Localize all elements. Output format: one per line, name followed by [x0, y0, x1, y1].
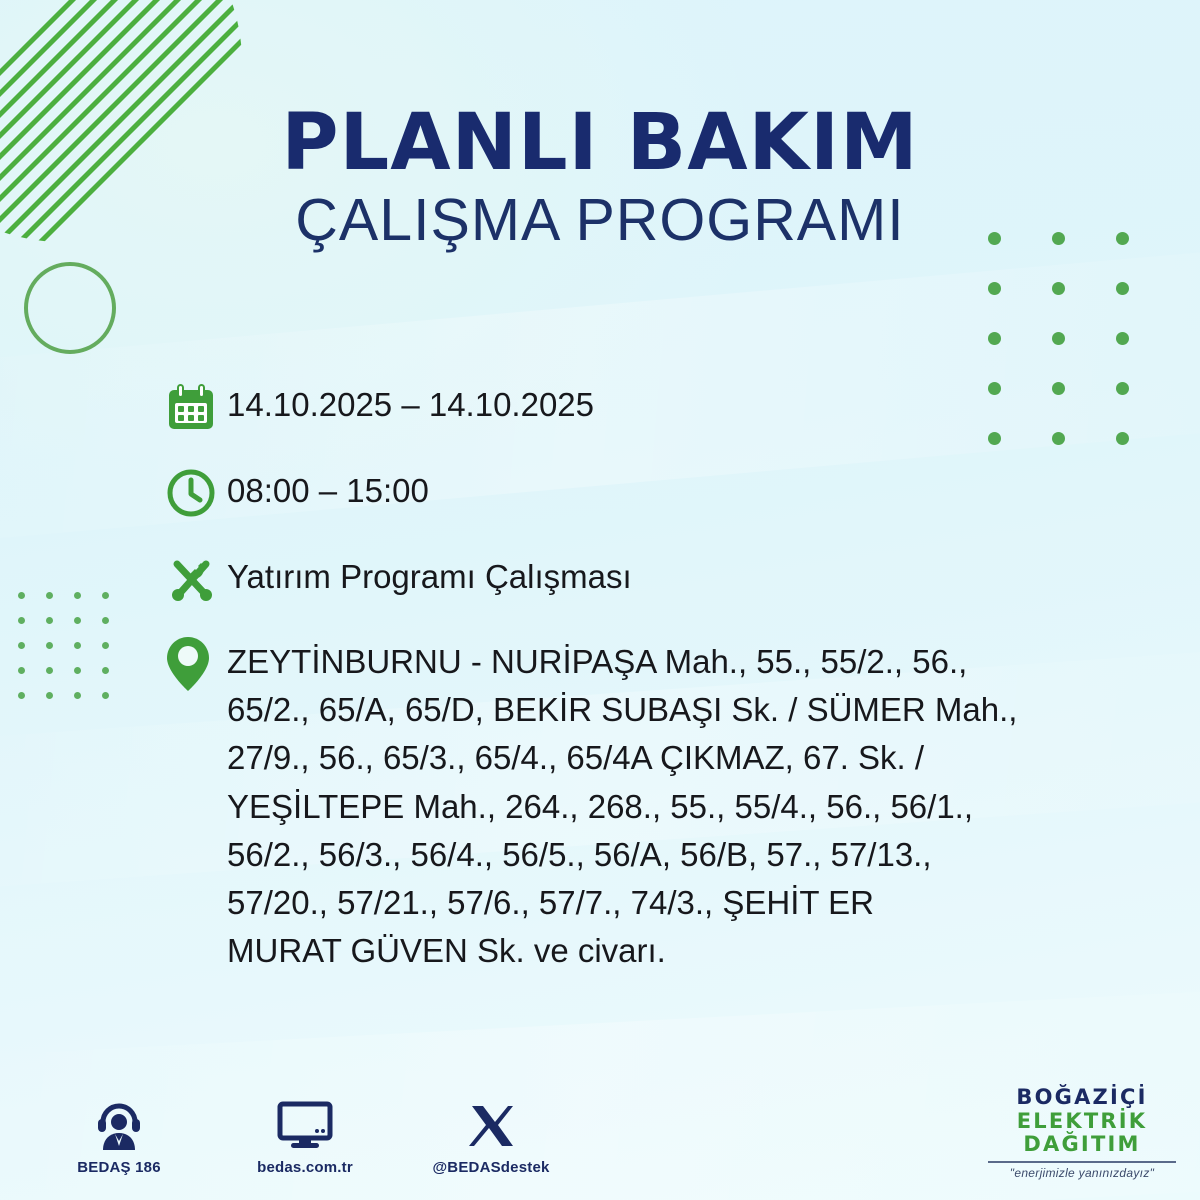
info-row-work-type: Yatırım Programı Çalışması: [165, 550, 1125, 608]
address-text: ZEYTİNBURNU - NURİPAŞA Mah., 55., 55/2.,…: [227, 636, 1017, 975]
dot-grid-left-decoration: [18, 592, 130, 717]
poster-header: PLANLI BAKIM ÇALIŞMA PROGRAMI: [0, 104, 1200, 251]
contact-social-x[interactable]: @BEDASdestek: [430, 1092, 552, 1176]
info-row-address: ZEYTİNBURNU - NURİPAŞA Mah., 55., 55/2.,…: [165, 636, 1125, 975]
page-subtitle: ÇALIŞMA PROGRAMI: [0, 190, 1200, 252]
x-twitter-icon: [430, 1092, 552, 1150]
info-row-time: 08:00 – 15:00: [165, 464, 1125, 522]
circle-outline-decoration: [24, 262, 116, 354]
date-range-text: 14.10.2025 – 14.10.2025: [227, 378, 594, 426]
headset-icon: [58, 1092, 180, 1150]
address-line: 27/9., 56., 65/3., 65/4., 65/4A ÇIKMAZ, …: [227, 734, 1017, 782]
poster: PLANLI BAKIM ÇALIŞMA PROGRAMI: [0, 0, 1200, 1200]
address-line: 56/2., 56/3., 56/4., 56/5., 56/A, 56/B, …: [227, 831, 1017, 879]
calendar-icon: [165, 378, 227, 436]
info-row-date: 14.10.2025 – 14.10.2025: [165, 378, 1125, 436]
company-logo: BOĞAZİÇİ ELEKTRİK DAĞITIM "enerjimizle y…: [982, 1086, 1182, 1180]
logo-line-elektrik: ELEKTRİK: [982, 1110, 1182, 1134]
logo-line-dagitim: DAĞITIM: [982, 1133, 1182, 1157]
location-pin-icon: [165, 636, 227, 692]
logo-line-bogazici: BOĞAZİÇİ: [982, 1086, 1182, 1110]
contact-label: BEDAŞ 186: [58, 1159, 180, 1176]
address-line: 57/20., 57/21., 57/6., 57/7., 74/3., ŞEH…: [227, 879, 1017, 927]
tools-wrench-screwdriver-icon: [165, 550, 227, 608]
contact-call-center[interactable]: BEDAŞ 186: [58, 1092, 180, 1176]
address-line: ZEYTİNBURNU - NURİPAŞA Mah., 55., 55/2.,…: [227, 638, 1017, 686]
logo-tagline: "enerjimizle yanınızdayız": [982, 1166, 1182, 1180]
address-line: MURAT GÜVEN Sk. ve civarı.: [227, 927, 1017, 975]
info-list: 14.10.2025 – 14.10.2025 08:00 – 15:00: [165, 378, 1125, 975]
clock-icon: [165, 464, 227, 522]
logo-divider: [988, 1161, 1176, 1163]
work-type-text: Yatırım Programı Çalışması: [227, 550, 632, 598]
address-line: 65/2., 65/A, 65/D, BEKİR SUBAŞI Sk. / SÜ…: [227, 686, 1017, 734]
address-line: YEŞİLTEPE Mah., 264., 268., 55., 55/4., …: [227, 783, 1017, 831]
contact-label: bedas.com.tr: [244, 1159, 366, 1176]
time-range-text: 08:00 – 15:00: [227, 464, 429, 512]
monitor-icon: [244, 1092, 366, 1150]
contact-website[interactable]: bedas.com.tr: [244, 1092, 366, 1176]
poster-footer: BEDAŞ 186 bedas.com.tr: [0, 1056, 1200, 1186]
contact-list: BEDAŞ 186 bedas.com.tr: [58, 1092, 552, 1176]
contact-label: @BEDASdestek: [430, 1159, 552, 1176]
page-title: PLANLI BAKIM: [0, 104, 1200, 184]
